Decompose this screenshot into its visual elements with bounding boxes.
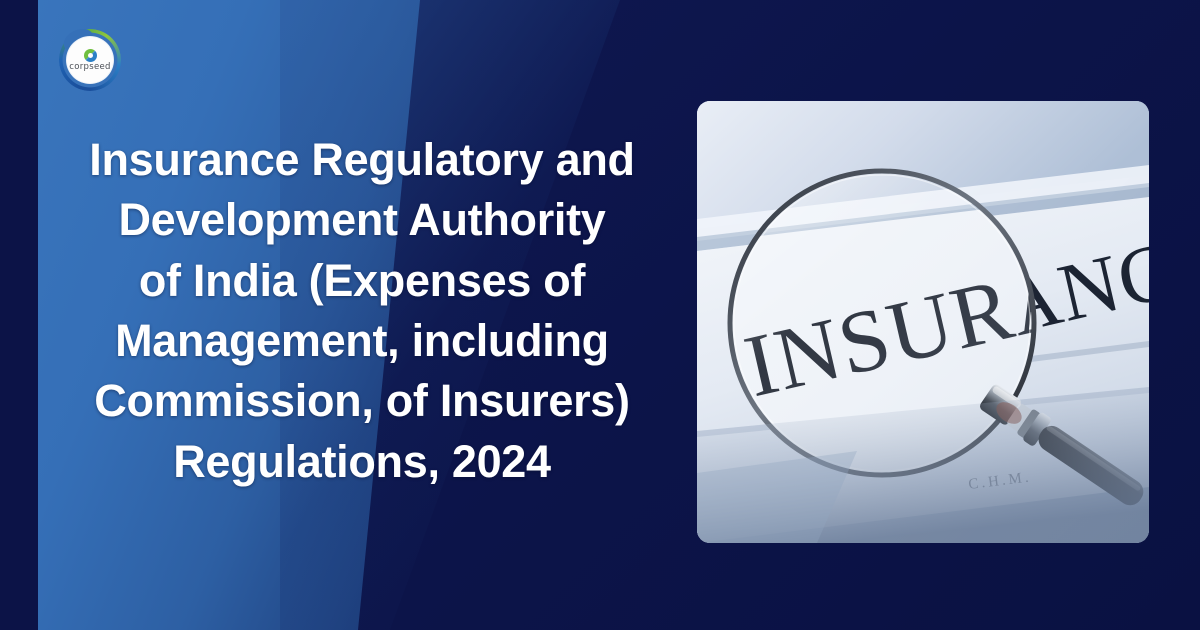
corpseed-seed-icon [84,49,97,62]
background-left-edge-strip [0,0,38,630]
logo-inner-disc: corpseed [67,37,113,83]
photo-illustration: 3 C.H.M. INSURANCE INSURANCE [697,101,1149,543]
corpseed-logo[interactable]: corpseed [59,29,121,91]
page-title: Insurance Regulatory and Development Aut… [52,130,672,492]
corpseed-banner: corpseed Insurance Regulatory and Develo… [0,0,1200,630]
logo-wordmark: corpseed [69,63,110,72]
insurance-magnifier-photo: 3 C.H.M. INSURANCE INSURANCE [697,101,1149,543]
